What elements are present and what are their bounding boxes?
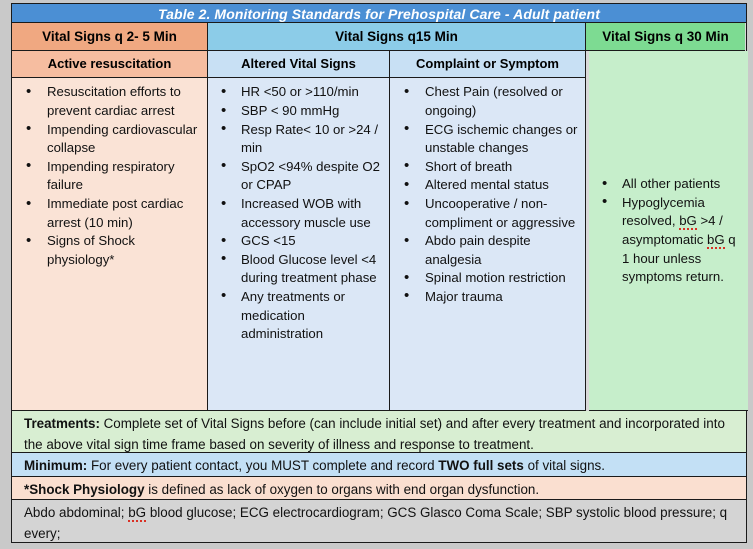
- sub-header-active-resuscitation: Active resuscitation: [12, 51, 208, 78]
- monitoring-standards-table: Table 2. Monitoring Standards for Prehos…: [11, 3, 747, 543]
- footer-treatments-text: Complete set of Vital Signs before (can …: [24, 416, 725, 452]
- q30-bg-2: bG: [707, 232, 725, 249]
- footer-abbrev-a: Abdo abdominal;: [24, 505, 128, 520]
- list-complaint-or-symptom: Chest Pain (resolved or ongoing) ECG isc…: [392, 83, 583, 306]
- cell-altered-vital-signs: HR <50 or >110/min SBP < 90 mmHg Resp Ra…: [208, 78, 390, 411]
- footer-minimum-text-b: of vital signs.: [524, 458, 605, 473]
- content-rows: Active resuscitation Altered Vital Signs…: [12, 51, 746, 411]
- list-item: ECG ischemic changes or unstable changes: [392, 121, 583, 158]
- group-header-row: Vital Signs q 2- 5 Min Vital Signs q15 M…: [12, 23, 746, 51]
- list-item: Blood Glucose level <4 during treatment …: [210, 251, 387, 288]
- list-item: Major trauma: [392, 288, 583, 307]
- footer-treatments-label: Treatments:: [24, 416, 100, 431]
- cell-active-resuscitation: Resuscitation efforts to prevent cardiac…: [12, 78, 208, 411]
- list-item: Abdo pain despite analgesia: [392, 232, 583, 269]
- footer-minimum-bold: TWO full sets: [438, 458, 524, 473]
- footer-abbrev-bg: bG: [128, 505, 146, 522]
- footer-shock-physiology: *Shock Physiology is defined as lack of …: [12, 477, 746, 500]
- table-title: Table 2. Monitoring Standards for Prehos…: [12, 4, 746, 23]
- list-item: HR <50 or >110/min: [210, 83, 387, 102]
- footer-shock-text: is defined as lack of oxygen to organs w…: [145, 482, 540, 497]
- footer-minimum-label: Minimum:: [24, 458, 87, 473]
- list-active-resuscitation: Resuscitation efforts to prevent cardiac…: [14, 83, 205, 269]
- cell-complaint-or-symptom: Chest Pain (resolved or ongoing) ECG isc…: [390, 78, 586, 411]
- footer-shock-label: *Shock Physiology: [24, 482, 145, 497]
- sub-header-altered-vital-signs: Altered Vital Signs: [208, 51, 390, 78]
- list-item: Hypoglycemia resolved, bG >4 / asymptoma…: [591, 194, 746, 287]
- sub-header-complaint-or-symptom: Complaint or Symptom: [390, 51, 586, 78]
- body-row: Resuscitation efforts to prevent cardiac…: [12, 78, 589, 411]
- list-item: Spinal motion restriction: [392, 269, 583, 288]
- list-item: Uncooperative / non-compliment or aggres…: [392, 195, 583, 232]
- list-item: SBP < 90 mmHg: [210, 102, 387, 121]
- list-altered-vital-signs: HR <50 or >110/min SBP < 90 mmHg Resp Ra…: [210, 83, 387, 343]
- list-item: Resuscitation efforts to prevent cardiac…: [14, 83, 205, 120]
- list-item: Increased WOB with accessory muscle use: [210, 195, 387, 232]
- screenshot-root: Table 2. Monitoring Standards for Prehos…: [0, 0, 753, 549]
- list-item: SpO2 <94% despite O2 or CPAP: [210, 158, 387, 195]
- list-item: Signs of Shock physiology*: [14, 232, 205, 269]
- list-item: Any treatments or medication administrat…: [210, 288, 387, 344]
- group-header-q15min: Vital Signs q15 Min: [208, 23, 586, 51]
- list-item: GCS <15: [210, 232, 387, 251]
- footer-treatments: Treatments: Complete set of Vital Signs …: [12, 411, 746, 453]
- footer-minimum-text-a: For every patient contact, you MUST comp…: [87, 458, 438, 473]
- list-item: Impending cardiovascular collapse: [14, 121, 205, 158]
- footer-abbreviations: Abdo abdominal; bG blood glucose; ECG el…: [12, 500, 746, 542]
- list-item: Immediate post cardiac arrest (10 min): [14, 195, 205, 232]
- group-header-q2-5min: Vital Signs q 2- 5 Min: [12, 23, 208, 51]
- list-item: All other patients: [591, 175, 746, 194]
- group-header-q30min: Vital Signs q 30 Min: [586, 23, 745, 51]
- list-q30-min: All other patients Hypoglycemia resolved…: [591, 175, 746, 287]
- left-three-columns: Active resuscitation Altered Vital Signs…: [12, 51, 589, 411]
- sub-header-row: Active resuscitation Altered Vital Signs…: [12, 51, 589, 78]
- list-item: Resp Rate< 10 or >24 / min: [210, 121, 387, 158]
- list-item: Short of breath: [392, 158, 583, 177]
- list-item: Impending respiratory failure: [14, 158, 205, 195]
- list-item: Chest Pain (resolved or ongoing): [392, 83, 583, 120]
- q30-bg-1: bG: [679, 213, 697, 230]
- cell-q30-min: All other patients Hypoglycemia resolved…: [589, 51, 748, 411]
- list-item: Altered mental status: [392, 176, 583, 195]
- footer-minimum: Minimum: For every patient contact, you …: [12, 453, 746, 476]
